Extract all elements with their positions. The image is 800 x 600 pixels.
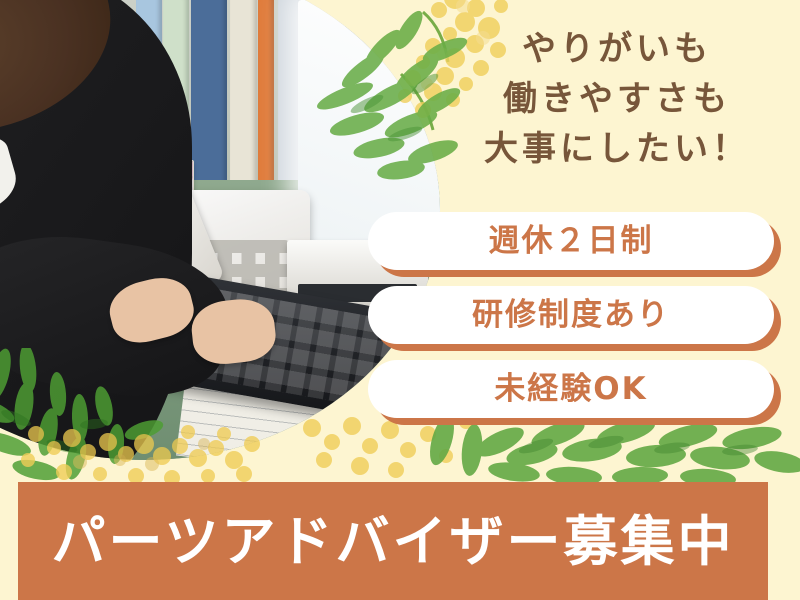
pill-label: 週休２日制 [489, 226, 654, 257]
pill-label: 研修制度あり [472, 300, 670, 331]
recruitment-poster: やりがいも 働きやすさも 大事にしたい！ 週休２日制 研修制度あり 未経験OK … [0, 0, 800, 600]
pill-body: 未経験OK [368, 360, 774, 418]
headline-line-1: やりがいも [452, 24, 782, 74]
pill-label: 未経験OK [494, 374, 647, 405]
benefit-pill-list: 週休２日制 研修制度あり 未経験OK [368, 212, 788, 434]
pill-body: 研修制度あり [368, 286, 774, 344]
benefit-pill-2: 研修制度あり [368, 286, 774, 344]
benefit-pill-1: 週休２日制 [368, 212, 774, 270]
headline-line-2: 働きやすさも [452, 74, 782, 124]
recruitment-banner: パーツアドバイザー募集中 [18, 482, 768, 600]
pill-body: 週休２日制 [368, 212, 774, 270]
headline: やりがいも 働きやすさも 大事にしたい！ [452, 24, 782, 174]
headline-line-3: 大事にしたい！ [452, 124, 782, 174]
benefit-pill-3: 未経験OK [368, 360, 774, 418]
banner-title: パーツアドバイザー募集中 [52, 514, 735, 568]
